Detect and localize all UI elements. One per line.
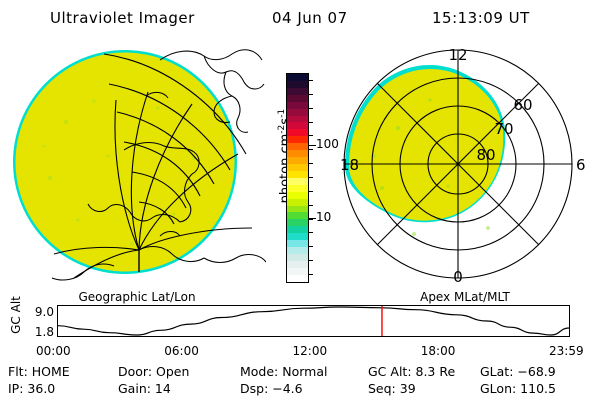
colorbar-minor-tick xyxy=(308,163,313,164)
colorbar-band-5 xyxy=(287,109,308,116)
colorbar-minor-tick xyxy=(308,108,313,109)
colorbar-band-13 xyxy=(287,164,308,171)
colorbar-minor-tick xyxy=(308,219,313,220)
colorbar-band-9 xyxy=(287,136,308,143)
altitude-strip-chart[interactable]: GC Alt 9.0 1.8 00:0006:0012:0018:0023:59 xyxy=(0,300,600,346)
time-axis: 00:0006:0012:0018:0023:59 xyxy=(0,344,600,360)
colorbar-minor-tick xyxy=(308,205,313,206)
colorbar-minor-tick xyxy=(308,94,313,95)
status-gc-alt: GC Alt: 8.3 Re xyxy=(368,364,455,379)
altitude-curve xyxy=(58,306,569,336)
colorbar-band-25 xyxy=(287,247,308,254)
mlt-label-0: 0 xyxy=(453,268,463,286)
altitude-ytick-low: 1.8 xyxy=(20,325,54,339)
apex-polar-plot: 12 6 0 18 60 70 80 xyxy=(338,38,592,290)
colorbar-band-20 xyxy=(287,212,308,219)
colorbar-band-17 xyxy=(287,192,308,199)
colorbar-minor-tick xyxy=(308,232,313,233)
colorbar-band-0 xyxy=(287,74,308,81)
colorbar: photon cm-2s-1 10010 xyxy=(262,60,334,295)
geographic-plot xyxy=(8,38,266,290)
colorbar-minor-tick xyxy=(308,260,313,261)
colorbar-band-1 xyxy=(287,81,308,88)
colorbar-minor-tick xyxy=(308,122,313,123)
mlat-label-80: 80 xyxy=(476,146,495,164)
colorbar-band-14 xyxy=(287,171,308,178)
apex-polar-panel[interactable]: 12 6 0 18 60 70 80 xyxy=(338,38,592,290)
status-ip: IP: 36.0 xyxy=(8,381,55,396)
colorbar-major-tick-10 xyxy=(308,218,316,219)
altitude-ytick-high: 9.0 xyxy=(20,305,54,319)
colorbar-band-21 xyxy=(287,219,308,226)
observation-time: 15:13:09 UT xyxy=(432,9,530,27)
colorbar-band-4 xyxy=(287,102,308,109)
colorbar-tick-label-10: 10 xyxy=(316,210,331,224)
geographic-image-panel[interactable] xyxy=(8,38,266,290)
colorbar-band-27 xyxy=(287,261,308,268)
colorbar-band-16 xyxy=(287,185,308,192)
colorbar-minor-tick xyxy=(308,80,313,81)
colorbar-band-6 xyxy=(287,116,308,123)
altitude-plot-area xyxy=(57,305,570,337)
mlat-label-60: 60 xyxy=(513,96,532,114)
colorbar-band-18 xyxy=(287,199,308,206)
colorbar-band-15 xyxy=(287,178,308,185)
instrument-title: Ultraviolet Imager xyxy=(50,9,195,27)
mlt-label-12: 12 xyxy=(448,46,467,64)
colorbar-band-26 xyxy=(287,254,308,261)
colorbar-minor-tick xyxy=(308,177,313,178)
colorbar-band-2 xyxy=(287,88,308,95)
colorbar-band-3 xyxy=(287,95,308,102)
status-gain: Gain: 14 xyxy=(118,381,171,396)
time-tick-0600: 06:00 xyxy=(164,344,199,358)
mlt-label-6: 6 xyxy=(576,156,586,174)
colorbar-band-29 xyxy=(287,275,308,282)
colorbar-band-24 xyxy=(287,240,308,247)
colorbar-band-19 xyxy=(287,206,308,213)
colorbar-band-23 xyxy=(287,233,308,240)
time-tick-0000: 00:00 xyxy=(36,344,71,358)
colorbar-minor-tick xyxy=(308,149,313,150)
colorbar-minor-tick xyxy=(308,135,313,136)
status-block: Flt: HOMEDoor: OpenMode: NormalGC Alt: 8… xyxy=(0,364,600,398)
observation-date: 04 Jun 07 xyxy=(272,9,348,27)
colorbar-gradient xyxy=(286,73,309,283)
status-glat: GLat: −68.9 xyxy=(480,364,556,379)
colorbar-band-8 xyxy=(287,129,308,136)
colorbar-minor-tick xyxy=(308,246,313,247)
uvi-display: Ultraviolet Imager 04 Jun 07 15:13:09 UT xyxy=(0,0,600,400)
status-glon: GLon: 110.5 xyxy=(480,381,556,396)
status-mode: Mode: Normal xyxy=(240,364,327,379)
mlat-label-70: 70 xyxy=(494,120,513,138)
disk-dayglow xyxy=(16,53,235,272)
colorbar-band-22 xyxy=(287,226,308,233)
mlt-label-18: 18 xyxy=(340,156,359,174)
colorbar-tick-label-100: 100 xyxy=(316,137,339,151)
time-tick-1200: 12:00 xyxy=(293,344,328,358)
time-tick-2359: 23:59 xyxy=(549,344,584,358)
time-tick-1800: 18:00 xyxy=(421,344,456,358)
header-bar: Ultraviolet Imager 04 Jun 07 15:13:09 UT xyxy=(0,6,600,30)
colorbar-band-28 xyxy=(287,268,308,275)
mlt-spokes xyxy=(344,50,572,278)
colorbar-minor-tick xyxy=(308,191,313,192)
colorbar-minor-tick xyxy=(308,274,313,275)
status-seq: Seq: 39 xyxy=(368,381,416,396)
status-flight: Flt: HOME xyxy=(8,364,70,379)
status-dsp: Dsp: −4.6 xyxy=(240,381,303,396)
colorbar-major-tick-100 xyxy=(308,145,316,146)
colorbar-band-12 xyxy=(287,157,308,164)
colorbar-band-11 xyxy=(287,150,308,157)
status-door: Door: Open xyxy=(118,364,189,379)
colorbar-band-10 xyxy=(287,143,308,150)
colorbar-band-7 xyxy=(287,122,308,129)
orbit-altitude-trace xyxy=(58,307,569,335)
